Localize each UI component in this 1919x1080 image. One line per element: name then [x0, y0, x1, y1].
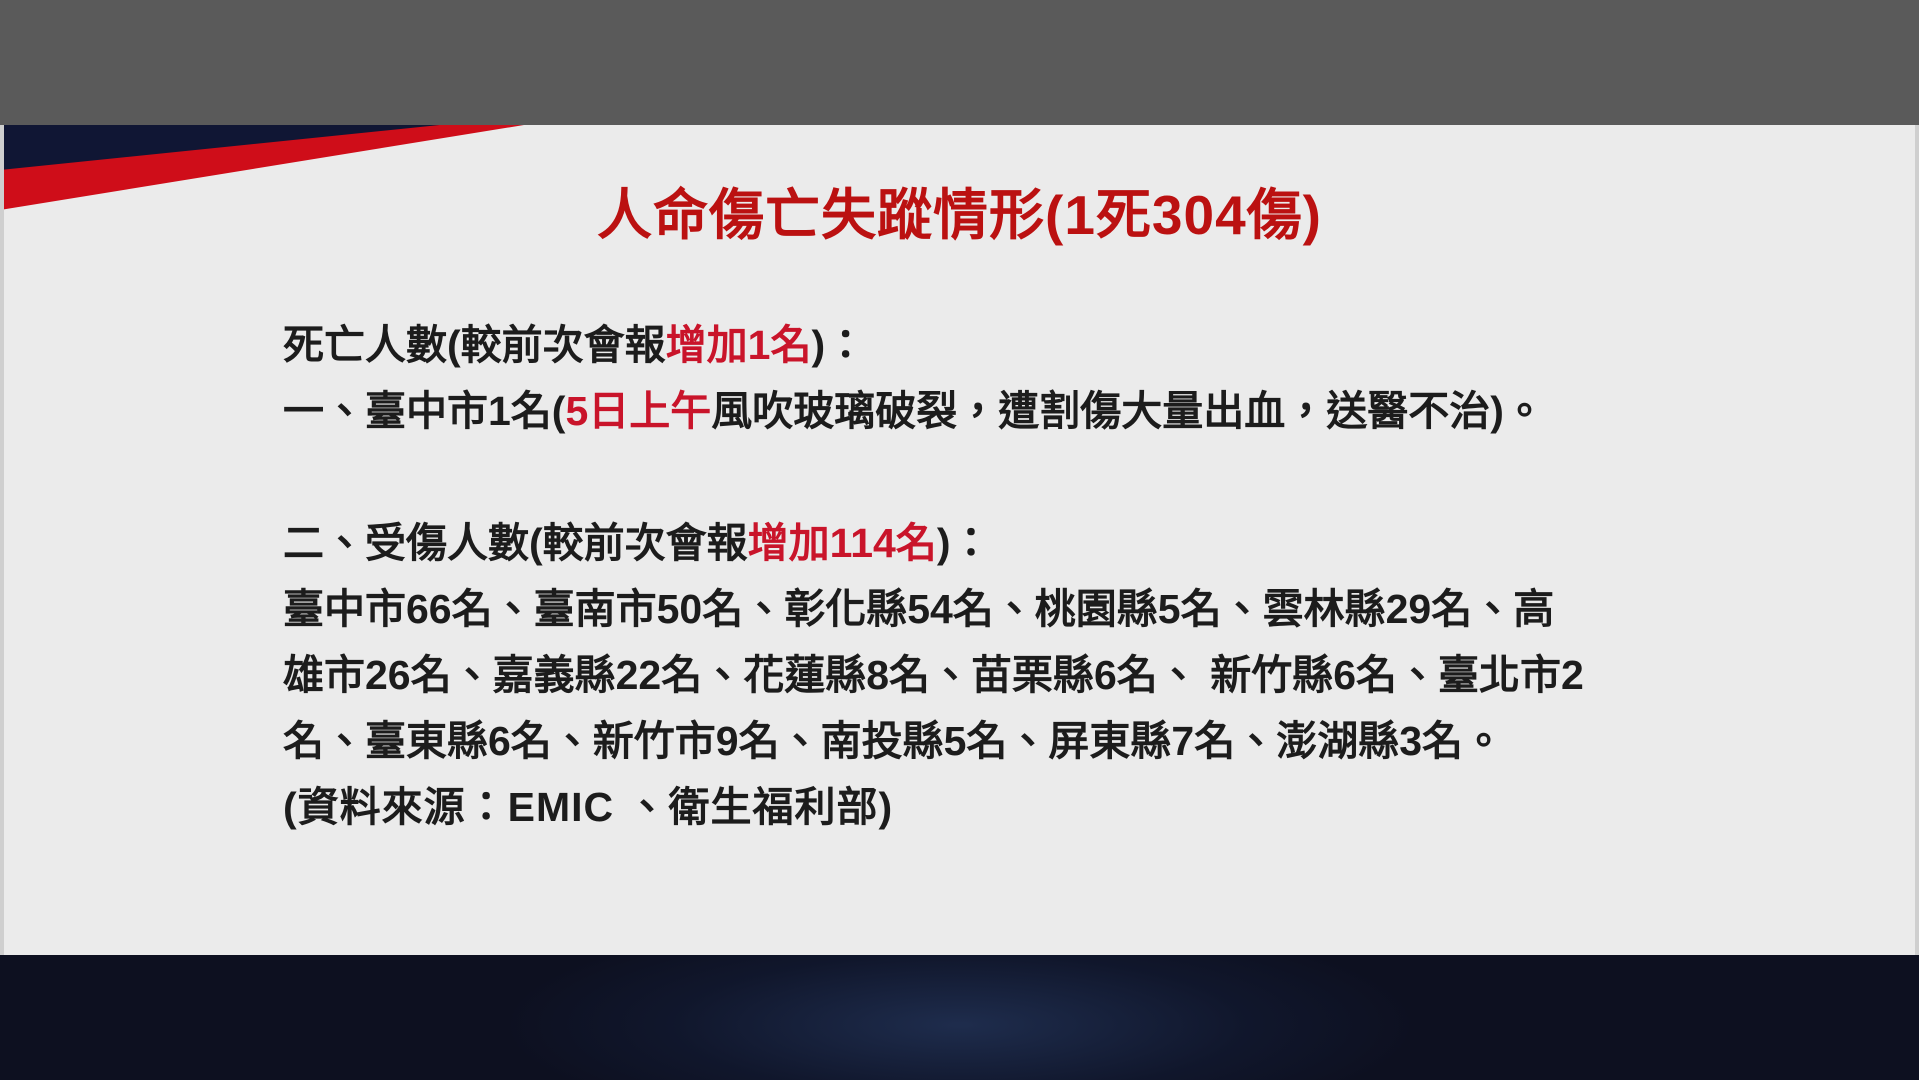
- injuries-label-line: 二、受傷人數(較前次會報增加114名)：: [283, 510, 1883, 576]
- deaths-label-highlight: 增加1名: [666, 322, 812, 368]
- slide-root: 災情狀況 (截至10月5日14:30) 人命傷亡失蹤情形(1死304傷) 死亡人…: [0, 0, 1919, 1080]
- deaths-item-line: 一、臺中市1名(5日上午風吹玻璃破裂，遭割傷大量出血，送醫不治)。: [283, 378, 1883, 444]
- deaths-label-line: 死亡人數(較前次會報增加1名)：: [283, 312, 1883, 378]
- bottom-glow: [510, 955, 1410, 1080]
- injuries-list-line-2: 雄市26名、嘉義縣22名、花蓮縣8名、苗栗縣6名、 新竹縣6名、臺北市2: [283, 642, 1883, 708]
- header-bar: [0, 0, 1919, 125]
- deaths-item-prefix: 一、臺中市1名(: [283, 388, 565, 434]
- deaths-item-highlight: 5日上午: [565, 388, 711, 434]
- injuries-label-highlight: 增加114名: [748, 520, 937, 566]
- deaths-label-prefix: 死亡人數(較前次會報: [283, 322, 666, 368]
- deaths-item-suffix: 風吹玻璃破裂，遭割傷大量出血，送醫不治)。: [711, 388, 1545, 434]
- slide-body: 死亡人數(較前次會報增加1名)： 一、臺中市1名(5日上午風吹玻璃破裂，遭割傷大…: [283, 312, 1883, 840]
- injuries-list-line-3: 名、臺東縣6名、新竹市9名、南投縣5名、屏東縣7名、澎湖縣3名。: [283, 708, 1883, 774]
- slide-heading: 人命傷亡失蹤情形(1死304傷): [0, 170, 1919, 250]
- body-spacer: [283, 444, 1883, 510]
- source-line: (資料來源：EMIC 、衛生福利部): [283, 774, 1883, 840]
- deaths-label-suffix: )：: [811, 322, 866, 368]
- injuries-label-prefix: 二、受傷人數(較前次會報: [283, 520, 748, 566]
- injuries-label-suffix: )：: [937, 520, 992, 566]
- injuries-list-line-1: 臺中市66名、臺南市50名、彰化縣54名、桃園縣5名、雲林縣29名、高: [283, 576, 1883, 642]
- bottom-strip: [0, 955, 1919, 1080]
